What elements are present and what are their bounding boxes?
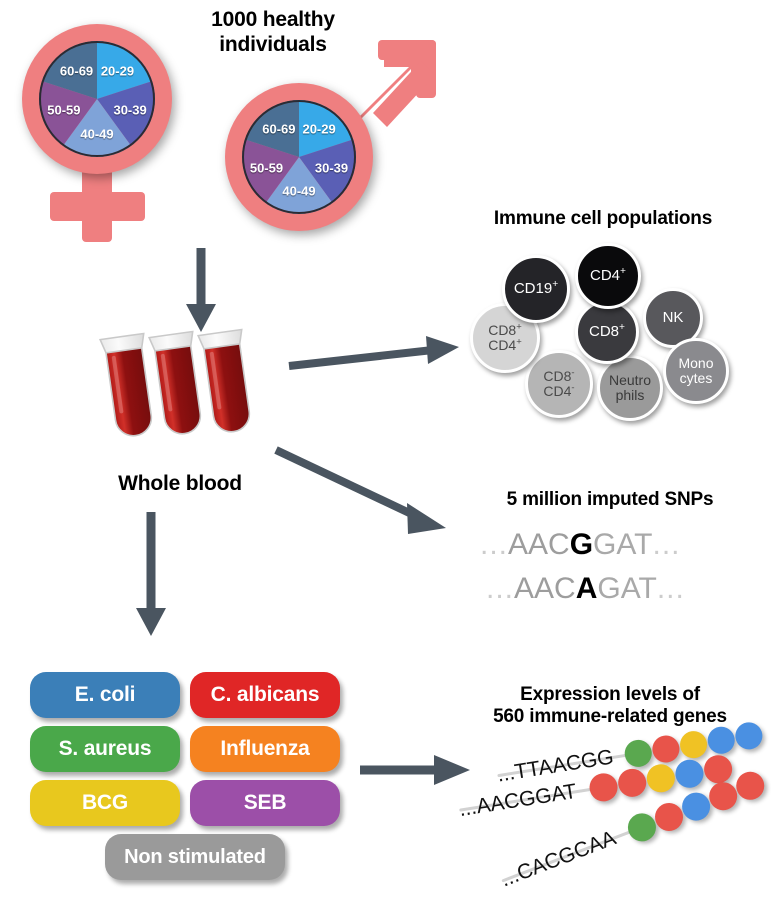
immune-cell-label-line: cytes — [678, 371, 713, 386]
immune-cell-label-line: CD19+ — [514, 281, 558, 297]
superscript-sign: - — [571, 382, 574, 393]
strand-sequence-text: ...AACGGAT — [457, 780, 578, 822]
immune-cell-label: Neutrophils — [609, 373, 651, 402]
superscript-sign: + — [516, 336, 522, 347]
expression-bead-yellow — [645, 762, 677, 794]
superscript-sign: + — [552, 279, 558, 290]
immune-cell-CD8: CD8+ — [575, 300, 639, 364]
immune-cell-Neutrophils: Neutrophils — [597, 355, 663, 421]
immune-cell-label-line: Mono — [678, 356, 713, 371]
gene-strands: ...TTAACGG...AACGGAT...CACGCAA — [0, 0, 771, 922]
immune-cell-label: CD8+ — [589, 324, 625, 340]
superscript-sign: + — [516, 322, 522, 333]
immune-cell-label-line: Neutro — [609, 373, 651, 388]
superscript-sign: + — [620, 266, 626, 277]
immune-cell-label-line: CD8+ — [589, 324, 625, 340]
expression-bead-red — [588, 771, 620, 803]
immune-cell-label-line: NK — [663, 310, 684, 326]
immune-cell-label: CD8-CD4- — [543, 369, 574, 398]
immune-cell-label-line: CD4+ — [488, 338, 522, 353]
expression-bead-red — [732, 768, 768, 804]
immune-cell-CD8CD4: CD8-CD4- — [525, 350, 593, 418]
immune-cell-label: NK — [663, 310, 684, 326]
expression-bead-blue — [733, 720, 764, 751]
immune-cell-CD19: CD19+ — [502, 255, 570, 323]
immune-cell-label: Monocytes — [678, 356, 713, 385]
figure-canvas: 1000 healthy individuals 20-2930-3940-49… — [0, 0, 771, 922]
strand-sequence-text: ...CACGCAA — [498, 826, 620, 892]
superscript-sign: + — [619, 322, 625, 333]
immune-cell-label-line: CD8- — [543, 369, 574, 384]
expression-bead-red — [616, 767, 648, 799]
immune-cell-label: CD8+CD4+ — [488, 323, 522, 352]
expression-bead-blue — [673, 758, 705, 790]
immune-cell-label-line: phils — [609, 388, 651, 403]
immune-cell-label-line: CD4- — [543, 384, 574, 399]
superscript-sign: - — [571, 368, 574, 379]
immune-cell-label: CD19+ — [514, 281, 558, 297]
immune-cell-Monocytes: Monocytes — [663, 338, 729, 404]
immune-cell-CD4: CD4+ — [575, 243, 641, 309]
immune-cell-label-line: CD4+ — [590, 268, 626, 284]
immune-cell-label: CD4+ — [590, 268, 626, 284]
